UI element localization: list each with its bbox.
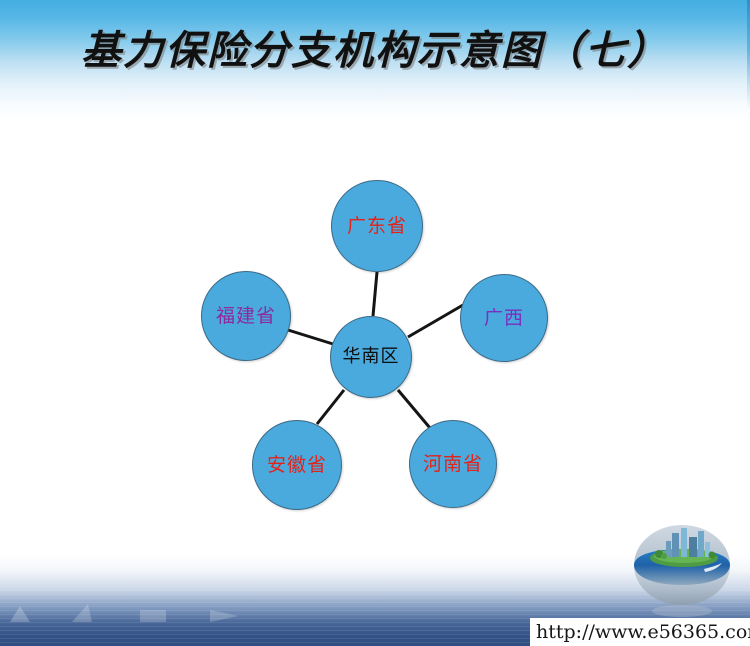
- node-branch-guangdong-label: 广东省: [347, 215, 407, 237]
- node-branch-henan[interactable]: 河南省: [409, 420, 497, 508]
- connector-center-anhui: [317, 390, 344, 424]
- node-branch-guangxi[interactable]: 广西: [460, 274, 548, 362]
- connector-center-guangdong: [373, 272, 377, 316]
- node-branch-anhui-label: 安徽省: [267, 454, 327, 476]
- node-center-huanan[interactable]: 华南区: [330, 316, 412, 398]
- node-branch-guangxi-label: 广西: [484, 307, 524, 329]
- connector-center-henan: [398, 390, 430, 428]
- connector-center-fujian: [288, 330, 333, 344]
- presentation-slide: 基力保险分支机构示意图（七） 华南区 广东省: [0, 0, 750, 646]
- connector-center-guangxi: [408, 305, 463, 337]
- node-branch-guangdong[interactable]: 广东省: [331, 180, 423, 272]
- node-branch-henan-label: 河南省: [423, 453, 483, 475]
- node-branch-fujian[interactable]: 福建省: [201, 271, 291, 361]
- globe-city-icon: [628, 525, 736, 623]
- watermark-url: http://www.e56365.com: [536, 621, 750, 643]
- node-center-label: 华南区: [343, 346, 400, 368]
- node-branch-anhui[interactable]: 安徽省: [252, 420, 342, 510]
- watermark-box: http://www.e56365.com: [530, 618, 750, 646]
- node-branch-fujian-label: 福建省: [216, 305, 276, 327]
